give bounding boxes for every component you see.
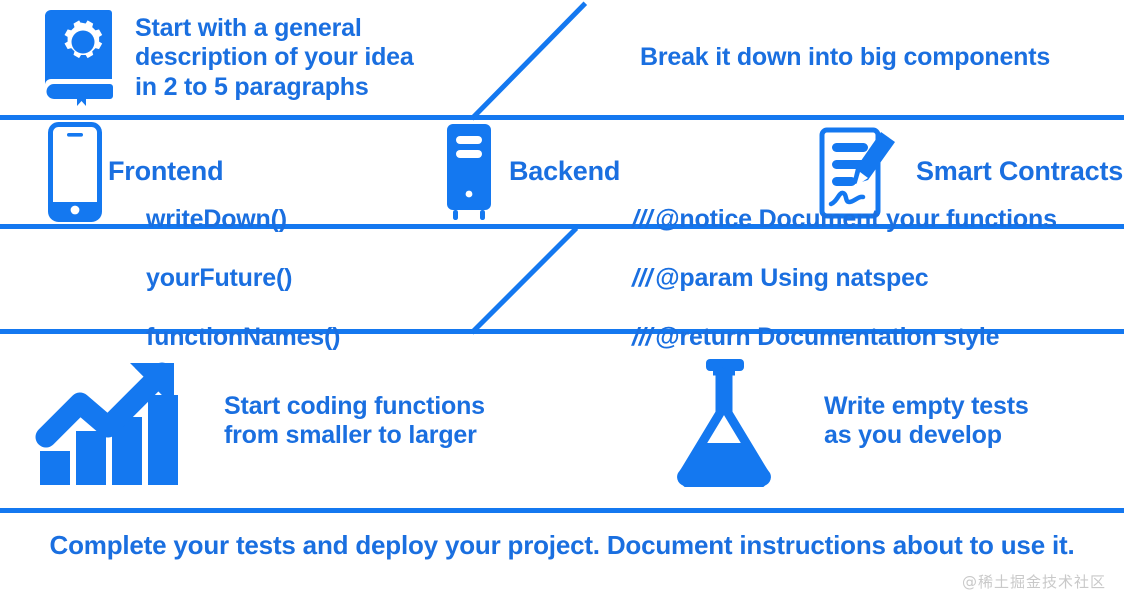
infographic-canvas: Start with a general description of your… — [0, 0, 1124, 600]
coding-text: Start coding functions from smaller to l… — [224, 392, 485, 451]
natspec-line-1: ///@notice Document your functions — [632, 205, 1057, 235]
smartphone-icon — [48, 122, 102, 222]
book-gear-icon — [45, 8, 117, 108]
row-footer: Complete your tests and deploy your proj… — [0, 513, 1124, 600]
backend-label: Backend — [509, 156, 620, 188]
watermark: @稀土掘金技术社区 — [962, 571, 1106, 592]
comment-slashes-icon: /// — [632, 264, 652, 294]
function-name-2: yourFuture() — [146, 264, 340, 294]
idea-text: Start with a general description of your… — [135, 14, 414, 103]
idea-block: Start with a general description of your… — [45, 4, 475, 112]
natspec-line-2: ///@param Using natspec — [632, 264, 1057, 294]
breakdown-text: Break it down into big components — [640, 43, 1050, 73]
natspec-block: ///@notice Document your functions ///@p… — [632, 229, 1057, 329]
tests-block: Write empty tests as you develop — [668, 334, 1029, 508]
server-tower-icon — [443, 122, 499, 222]
function-name-1: writeDown() — [146, 205, 340, 235]
growth-bar-chart-arrow-icon — [34, 355, 184, 487]
footer-block: Complete your tests and deploy your proj… — [0, 513, 1124, 577]
comment-slashes-icon: /// — [632, 205, 652, 235]
row-coding-and-tests: Start coding functions from smaller to l… — [0, 334, 1124, 508]
tests-text: Write empty tests as you develop — [824, 392, 1029, 451]
function-names-block: writeDown() yourFuture() functionNames() — [146, 229, 340, 329]
footer-text: Complete your tests and deploy your proj… — [50, 530, 1075, 561]
erlenmeyer-flask-icon — [668, 355, 780, 487]
row-idea-and-breakdown: Start with a general description of your… — [0, 0, 1124, 115]
backend-block: Backend — [443, 120, 620, 224]
breakdown-block: Break it down into big components — [640, 0, 1110, 115]
row-functions-and-natspec: writeDown() yourFuture() functionNames()… — [0, 229, 1124, 329]
coding-block: Start coding functions from smaller to l… — [34, 334, 485, 508]
